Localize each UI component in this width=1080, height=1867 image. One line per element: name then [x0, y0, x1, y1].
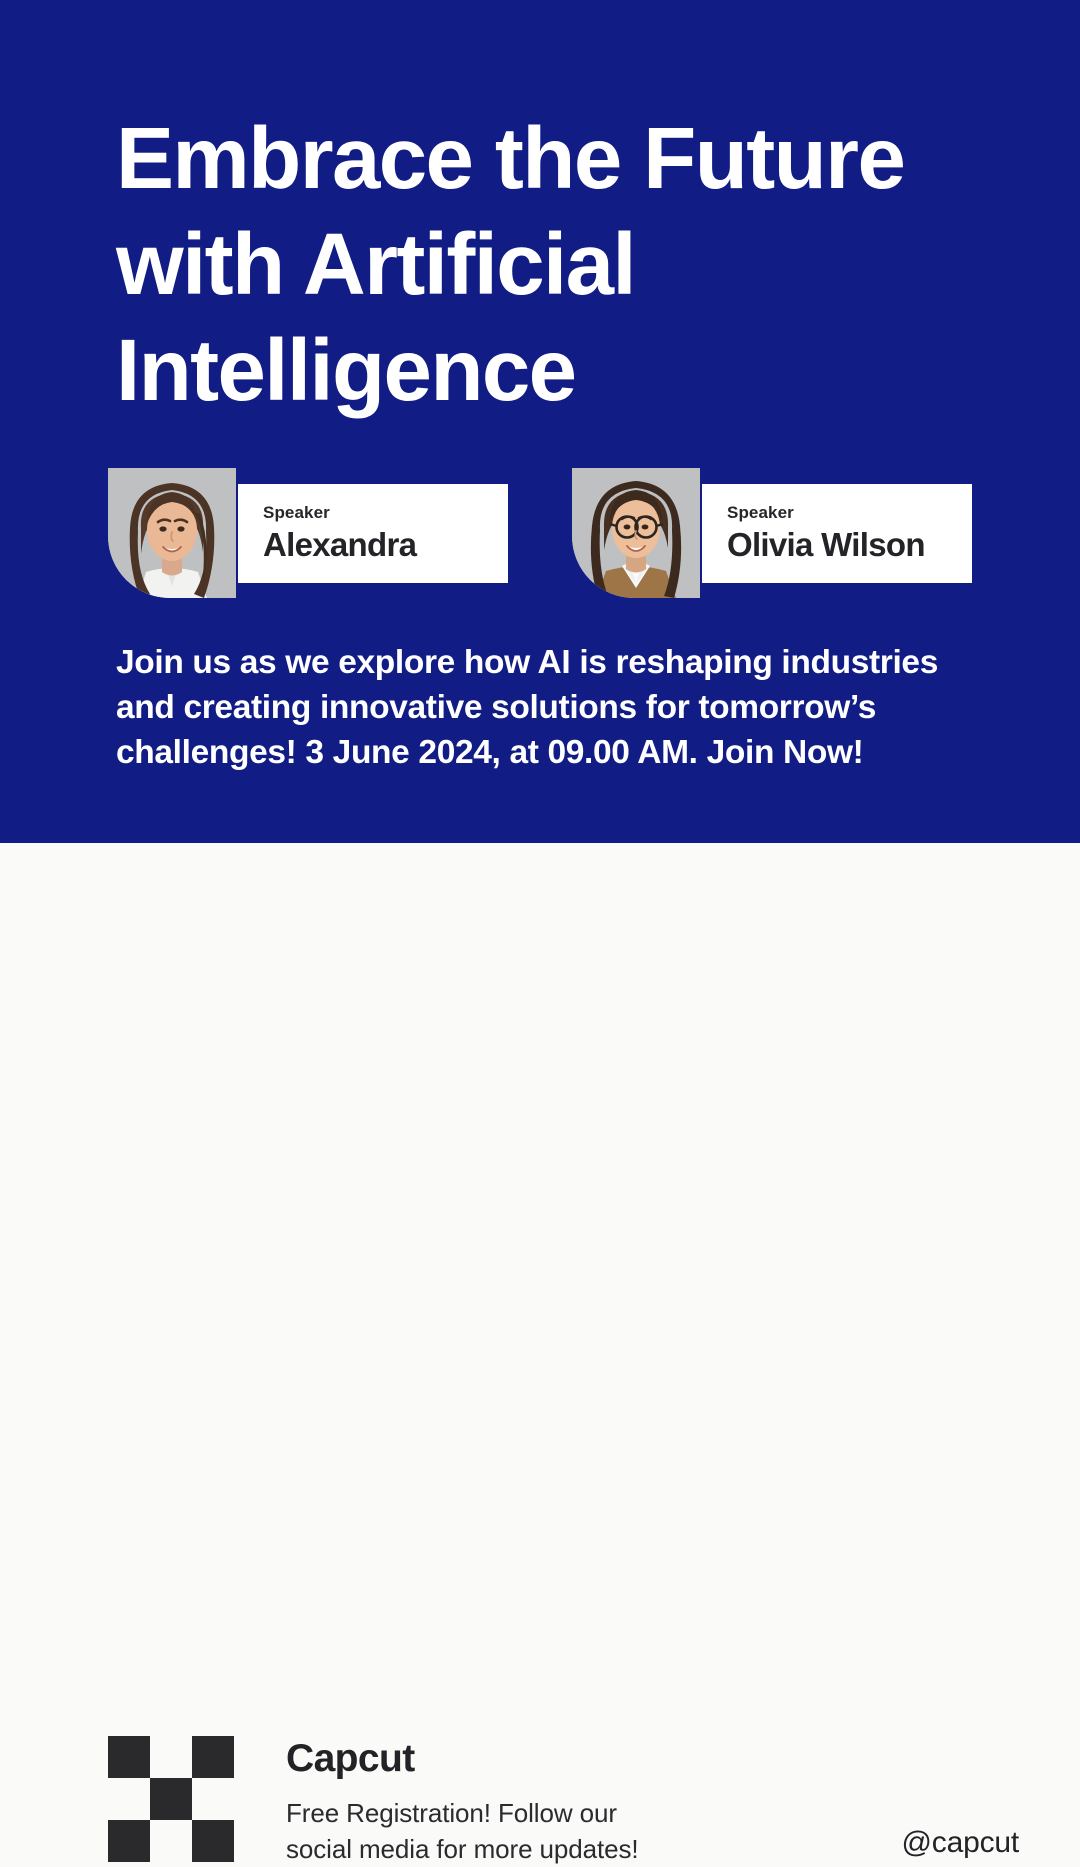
event-description: Join us as we explore how AI is reshapin…	[116, 640, 996, 775]
avatar	[572, 468, 700, 598]
social-handle[interactable]: @capcut	[902, 1825, 1019, 1861]
speaker-card-olivia-wilson[interactable]: Speaker Olivia Wilson	[572, 468, 972, 598]
brand-tagline: Free Registration! Follow our social med…	[286, 1795, 716, 1867]
logo-cell	[150, 1736, 192, 1778]
speaker-name-panel: Speaker Olivia Wilson	[702, 484, 972, 583]
speaker-role-label: Speaker	[727, 503, 972, 523]
speaker-role-label: Speaker	[263, 503, 508, 523]
logo-cell	[108, 1778, 150, 1820]
logo-cell	[108, 1736, 150, 1778]
speaker-name-panel: Speaker Alexandra	[238, 484, 508, 583]
brand-name: Capcut	[286, 1736, 415, 1782]
logo-cell	[192, 1820, 234, 1862]
checkerboard-logo-icon	[108, 1736, 234, 1862]
footer-bar: Capcut Free Registration! Follow our soc…	[0, 843, 1080, 1080]
event-poster: Embrace the Future with Artificial Intel…	[0, 0, 1080, 1080]
logo-cell	[192, 1736, 234, 1778]
speaker-name-label: Alexandra	[263, 526, 508, 564]
speaker-card-alexandra[interactable]: Speaker Alexandra	[108, 468, 508, 598]
logo-cell	[192, 1778, 234, 1820]
avatar	[108, 468, 236, 598]
logo-cell	[150, 1820, 192, 1862]
logo-cell	[108, 1820, 150, 1862]
logo-cell	[150, 1778, 192, 1820]
speaker-name-label: Olivia Wilson	[727, 526, 972, 564]
